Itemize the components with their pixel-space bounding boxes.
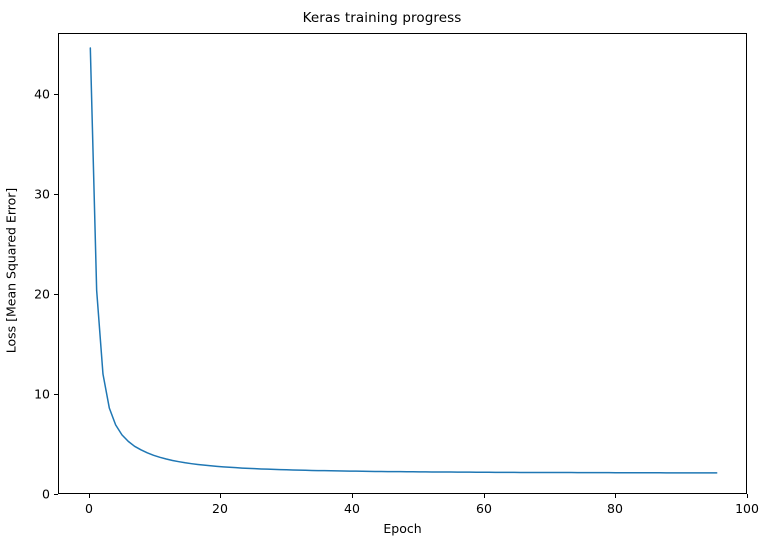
loss-line xyxy=(90,48,716,473)
xtick-mark-0 xyxy=(89,494,90,498)
xtick-label-80: 80 xyxy=(607,501,623,516)
ytick-label-20: 20 xyxy=(34,287,50,302)
y-axis-label-text: Loss [Mean Squared Error] xyxy=(4,188,19,354)
chart-title: Keras training progress xyxy=(0,10,764,26)
ytick-mark-10 xyxy=(54,394,58,395)
xtick-label-40: 40 xyxy=(344,501,360,516)
xtick-mark-100 xyxy=(747,494,748,498)
ytick-mark-20 xyxy=(54,294,58,295)
ytick-label-40: 40 xyxy=(34,87,50,102)
plot-area xyxy=(58,33,747,494)
loss-curve-svg xyxy=(59,34,747,494)
ytick-label-30: 30 xyxy=(34,187,50,202)
ytick-label-10: 10 xyxy=(34,387,50,402)
x-axis-label: Epoch xyxy=(58,521,747,536)
xtick-mark-40 xyxy=(352,494,353,498)
xtick-mark-60 xyxy=(484,494,485,498)
matplotlib-figure: Keras training progress 0 10 20 30 40 0 … xyxy=(0,0,764,547)
xtick-label-60: 60 xyxy=(476,501,492,516)
xtick-mark-80 xyxy=(615,494,616,498)
ytick-mark-30 xyxy=(54,194,58,195)
xtick-mark-20 xyxy=(220,494,221,498)
xtick-label-0: 0 xyxy=(85,501,93,516)
xtick-label-20: 20 xyxy=(212,501,228,516)
xtick-label-100: 100 xyxy=(735,501,759,516)
ytick-label-0: 0 xyxy=(42,487,50,502)
y-axis-label: Loss [Mean Squared Error] xyxy=(4,260,19,282)
ytick-mark-0 xyxy=(54,494,58,495)
ytick-mark-40 xyxy=(54,94,58,95)
